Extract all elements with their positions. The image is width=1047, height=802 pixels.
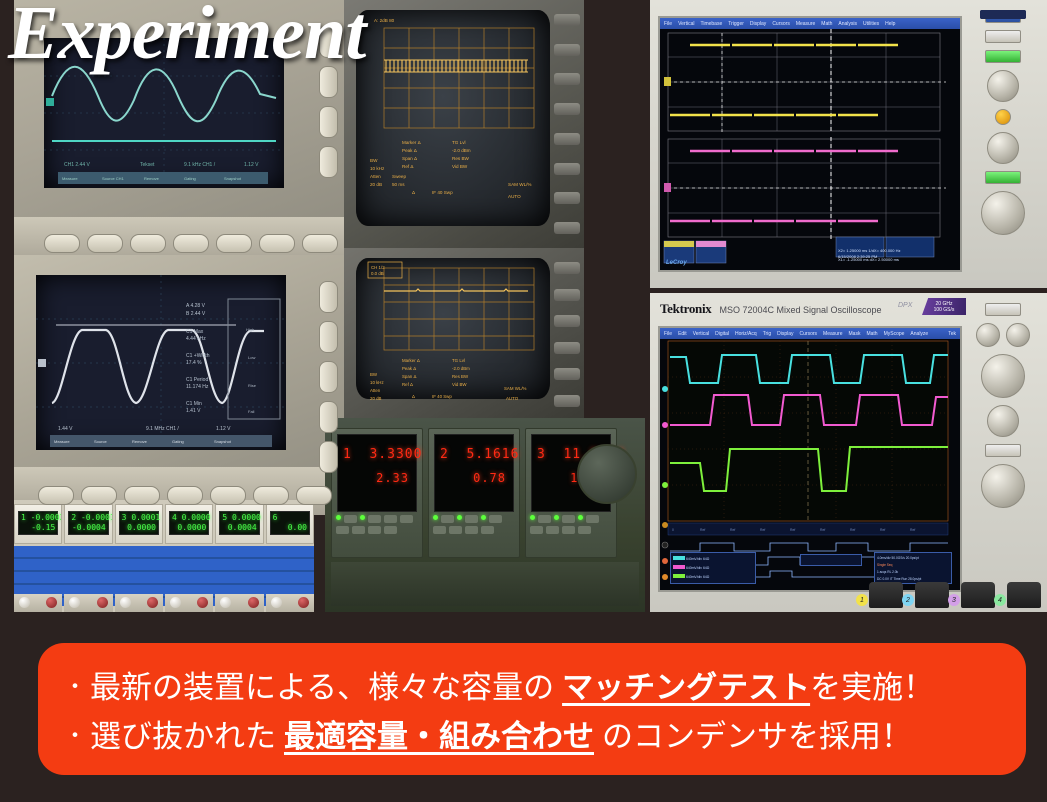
svg-text:1.41 V: 1.41 V	[186, 408, 201, 414]
mcu-module[interactable]: 1 -0.0002 -0.15	[14, 504, 62, 544]
probe-label-2: 2	[902, 594, 914, 606]
mcu-channel-id: 2	[71, 513, 76, 522]
svg-text:TG Lvl: TG Lvl	[452, 358, 465, 363]
svg-text:17.4 %: 17.4 %	[186, 360, 202, 366]
mcu-value-top: -0.0002	[31, 513, 63, 522]
svg-text:Ref: Ref	[850, 528, 855, 532]
svg-text:BW: BW	[370, 372, 378, 377]
tektronix-branding: Tektronix MSO 72004C Mixed Signal Oscill…	[660, 301, 882, 317]
menu-item: Math	[866, 331, 877, 337]
svg-text:IF 40 Swp: IF 40 Swp	[432, 190, 453, 195]
svg-text:Ref: Ref	[820, 528, 825, 532]
burst-waveform: A: 2dB 80 Marker ΔPeak Δ Span ΔRef Δ TG …	[356, 10, 556, 228]
svg-text:C1 Min: C1 Min	[186, 401, 202, 407]
psu-keypad[interactable]	[336, 515, 418, 551]
svg-text:Δ: Δ	[412, 190, 415, 195]
mcu-display: 2 -0.0001 -0.0004	[68, 511, 108, 535]
psu-lower-panel	[331, 562, 639, 606]
tek-logo: Tek	[948, 331, 956, 337]
mcu-value-top: 0.0000	[232, 513, 261, 522]
svg-text:Sweep: Sweep	[392, 174, 406, 179]
menu-item: Display	[777, 331, 793, 337]
multipurpose-knob-b[interactable]	[987, 405, 1019, 437]
probe-connector[interactable]: 3	[961, 582, 995, 608]
psu-voltage: 3.3300	[369, 447, 422, 462]
probe-connector[interactable]: 2	[915, 582, 949, 608]
mcu-channel-id: 3	[122, 513, 127, 522]
probe-connector[interactable]: 4	[1007, 582, 1041, 608]
run-stop-button[interactable]	[985, 50, 1021, 63]
lecroy-control-column[interactable]	[963, 10, 1043, 278]
svg-text:10 kHz: 10 kHz	[370, 380, 384, 385]
svg-text:B 2.44 V: B 2.44 V	[186, 311, 206, 317]
mcu-display: 3 0.0001 0.0000	[119, 511, 159, 535]
auto-setup-button[interactable]	[985, 171, 1021, 184]
svg-text:C1 +Width: C1 +Width	[186, 353, 210, 359]
menu-item: Cursors	[772, 21, 790, 27]
svg-text:-2.0 dBm: -2.0 dBm	[452, 148, 471, 153]
psu-display: 1 3.3300 2.33	[337, 434, 417, 512]
mcu-value-bottom: 0.0000	[177, 523, 206, 532]
svg-text:Gating: Gating	[172, 439, 184, 444]
lecroy-menu-bar[interactable]: File Vertical Timebase Trigger Display C…	[660, 18, 960, 29]
svg-text:Tekset: Tekset	[140, 162, 155, 168]
crt-side-buttons[interactable]	[554, 14, 580, 234]
front-panel-buttons[interactable]	[38, 486, 332, 505]
photo-amber-crt-flat: CH 1/20.0 dB Marker ΔPeak Δ Span ΔRef Δ …	[344, 248, 584, 423]
mcu-value-bottom: -0.15	[31, 523, 55, 532]
page-title: Experiment	[8, 0, 365, 77]
svg-text:1.44 V: 1.44 V	[58, 426, 73, 432]
svg-text:20 dB: 20 dB	[370, 396, 382, 401]
model-name: MSO 72004C Mixed Signal Oscilloscope	[719, 305, 881, 315]
svg-text:0.0 dB: 0.0 dB	[371, 271, 384, 276]
mcu-display: 6 0.00	[270, 511, 310, 535]
photo-tektronix-scope: Tektronix MSO 72004C Mixed Signal Oscill…	[650, 293, 1047, 612]
probe-label-1: 1	[856, 594, 868, 606]
svg-text:Span Δ: Span Δ	[402, 156, 417, 161]
svg-text:A 4.28 V: A 4.28 V	[186, 303, 206, 309]
trigger-level-knob[interactable]	[981, 464, 1025, 508]
mcu-channel-id: 4	[172, 513, 177, 522]
svg-text:Ref: Ref	[880, 528, 885, 532]
menu-item: Horiz/Acq	[735, 331, 757, 337]
svg-text:A: 2dB 80: A: 2dB 80	[374, 18, 395, 23]
autoset-button[interactable]	[985, 444, 1021, 457]
callout-line-2-post: のコンデンサを採用！	[602, 711, 912, 756]
svg-text:IF 40 Swp: IF 40 Swp	[432, 394, 452, 399]
svg-text:9.1 MHz CH1 /: 9.1 MHz CH1 /	[146, 426, 179, 432]
menu-item: Cursors	[800, 331, 818, 337]
psu-channel-id: 3	[537, 447, 546, 462]
callout-box: ・ 最新の装置による、様々な容量の マッチングテスト を実施！ ・ 選び抜かれた…	[38, 643, 1026, 775]
vertical-position-knob[interactable]	[987, 70, 1019, 102]
callout-line-1: ・ 最新の装置による、様々な容量の マッチングテスト を実施！	[64, 662, 1000, 707]
menu-item: Digital	[715, 331, 729, 337]
psu-display: 2 5.1616 0.78	[434, 434, 514, 512]
mcu-value-top: 0.0001	[131, 513, 160, 522]
badge-line-2: 100 GS/s	[934, 307, 955, 313]
lecroy-screen: File Vertical Timebase Trigger Display C…	[658, 16, 962, 272]
bullet-glyph: ・	[64, 718, 90, 750]
svg-text:Measure: Measure	[54, 439, 70, 444]
screen-timestamp: 6/15/2008 2:39:25 PM	[838, 254, 901, 260]
photo-digital-oscilloscope-square: A 4.28 VB 2.44 V C1 Max4.44 kHz C1 +Widt…	[14, 255, 344, 515]
tek-control-column[interactable]	[963, 303, 1043, 602]
svg-text:1.12 V: 1.12 V	[244, 162, 259, 168]
svg-text:Ref: Ref	[760, 528, 765, 532]
psu-keypad[interactable]	[530, 515, 612, 551]
psu-keypad[interactable]	[433, 515, 515, 551]
svg-text:1.12 V: 1.12 V	[216, 426, 231, 432]
horizontal-scale-knob[interactable]	[976, 323, 1000, 347]
mcu-value-top: 0.0000	[182, 513, 211, 522]
menu-item: File	[664, 331, 672, 337]
svg-text:CH1 2.44 V: CH1 2.44 V	[64, 162, 91, 168]
svg-text:50 ms: 50 ms	[392, 182, 405, 187]
svg-text:Res BW: Res BW	[452, 374, 469, 379]
photo-lecroy-scope: File Vertical Timebase Trigger Display C…	[650, 0, 1047, 288]
menu-item: Vertical	[693, 331, 709, 337]
svg-text:-2.0 dBm: -2.0 dBm	[452, 366, 470, 371]
flat-waveform: CH 1/20.0 dB Marker ΔPeak Δ Span ΔRef Δ …	[356, 258, 556, 406]
svg-text:Source: Source	[94, 439, 107, 444]
svg-text:Peak Δ: Peak Δ	[402, 148, 417, 153]
psu-channel-1[interactable]: 1 3.3300 2.33	[331, 428, 423, 558]
svg-text:Marker Δ: Marker Δ	[402, 358, 420, 363]
psu-current: 2.33	[376, 471, 409, 485]
mcu-display: 5 0.0000 0.0004	[219, 511, 259, 535]
svg-text:Ref Δ: Ref Δ	[402, 164, 414, 169]
bandwidth-badge: 20 GHz 100 GS/s	[922, 298, 966, 315]
probe-row: 1 2 3 4	[656, 568, 1041, 608]
svg-text:Marker Δ: Marker Δ	[402, 140, 421, 145]
mcu-display: 1 -0.0002 -0.15	[18, 511, 58, 535]
svg-text:Vid BW: Vid BW	[452, 164, 468, 169]
menu-item: Measure	[823, 331, 842, 337]
svg-text:C1 Period: C1 Period	[186, 377, 208, 383]
svg-text:AUTO: AUTO	[506, 396, 519, 401]
svg-text:11.174 Hz: 11.174 Hz	[186, 384, 209, 390]
photo-dc-power-supply-rack: 1 3.3300 2.33 2 5.1616 0.78	[325, 418, 645, 612]
mcu-module[interactable]: 2 -0.0001 -0.0004	[64, 504, 112, 544]
mcu-value-bottom: 0.0000	[127, 523, 156, 532]
mcu-connector-row[interactable]	[14, 594, 314, 612]
callout-line-2-pre: 選び抜かれた	[90, 711, 276, 756]
svg-text:Ref: Ref	[910, 528, 915, 532]
psu-channel-id: 1	[343, 447, 352, 462]
scope-screen: A 4.28 VB 2.44 V C1 Max4.44 kHz C1 +Widt…	[36, 275, 286, 450]
menu-item: Analyze	[910, 331, 928, 337]
menu-item: Trigger	[728, 21, 744, 27]
svg-text:Vid BW: Vid BW	[452, 382, 467, 387]
mcu-module-controller[interactable]: 6 0.00	[266, 504, 314, 544]
tek-menu-bar[interactable]: File Edit Vertical Digital Horiz/Acq Tri…	[660, 328, 960, 339]
svg-text:20 dB: 20 dB	[370, 182, 382, 187]
svg-text:Atten: Atten	[370, 174, 381, 179]
menu-item: MyScope	[884, 331, 905, 337]
psu-channel-id: 2	[440, 447, 449, 462]
tektronix-waveforms: 0RefRef RefRefRef RefRefRef	[660, 339, 956, 587]
svg-text:10 kHz: 10 kHz	[370, 166, 385, 171]
menu-item: Utilities	[863, 21, 879, 27]
mcu-display: 4 0.0000 0.0000	[169, 511, 209, 535]
lecroy-waveforms: X1= -1.25000 ms dX= 2.50000 ms	[660, 29, 956, 267]
crt-screen: CH 1/20.0 dB Marker ΔPeak Δ Span ΔRef Δ …	[356, 258, 550, 399]
panel-label-adjust	[980, 10, 1026, 19]
svg-text:AUTO: AUTO	[508, 194, 521, 199]
menu-item: Analysis	[838, 21, 857, 27]
print-button[interactable]	[985, 30, 1021, 43]
svg-text:High: High	[246, 327, 254, 332]
menu-item: File	[664, 21, 672, 27]
svg-text:TG Lvl: TG Lvl	[452, 140, 466, 145]
mcu-module[interactable]: 3 0.0001 0.0000	[115, 504, 163, 544]
trigger-indicator[interactable]	[995, 109, 1011, 125]
lecroy-logo: LeCroy	[666, 260, 687, 266]
bullet-glyph: ・	[64, 669, 90, 701]
mcu-value-top: -0.0001	[81, 513, 113, 522]
menu-item: Measure	[796, 21, 815, 27]
trigger-level-knob[interactable]	[987, 132, 1019, 164]
svg-text:BW: BW	[370, 158, 378, 163]
front-panel-buttons[interactable]	[44, 234, 338, 253]
trigger-source-panel	[800, 554, 862, 566]
display-button[interactable]	[985, 303, 1021, 316]
psu-voltage: 5.1616	[466, 447, 519, 462]
svg-text:Measure: Measure	[62, 176, 78, 181]
menu-item: Edit	[678, 331, 687, 337]
psu-channel-2[interactable]: 2 5.1616 0.78	[428, 428, 520, 558]
mcu-channel-id: 1	[21, 513, 26, 522]
psu-rotary-knob[interactable]	[577, 444, 637, 504]
callout-line-1-post: を実施！	[810, 662, 934, 707]
svg-text:SAM WL/%: SAM WL/%	[504, 386, 527, 391]
menu-item: Mask	[849, 331, 861, 337]
crt-screen: A: 2dB 80 Marker ΔPeak Δ Span ΔRef Δ TG …	[356, 10, 550, 226]
svg-text:Rise: Rise	[248, 383, 257, 388]
mcu-module[interactable]: 4 0.0000 0.0000	[165, 504, 213, 544]
mcu-value-bottom: -0.0004	[72, 523, 106, 532]
svg-text:Ref Δ: Ref Δ	[402, 382, 413, 387]
probe-label-4: 4	[994, 594, 1006, 606]
menu-item: Trig	[763, 331, 771, 337]
tektronix-screen: File Edit Vertical Digital Horiz/Acq Tri…	[658, 326, 962, 592]
svg-text:Snapshot: Snapshot	[224, 176, 242, 181]
scope-side-buttons[interactable]	[319, 281, 338, 473]
probe-connector[interactable]: 1	[869, 582, 903, 608]
mcu-module[interactable]: 5 0.0000 0.0004	[215, 504, 263, 544]
svg-text:Δ: Δ	[412, 394, 415, 399]
callout-line-1-emphasis: マッチングテスト	[562, 662, 810, 707]
mcu-value-bottom: 0.0004	[228, 523, 257, 532]
mcu-value-top: 0.00	[288, 523, 307, 532]
svg-text:Fall: Fall	[248, 409, 255, 414]
svg-text:SAM WL/%: SAM WL/%	[508, 182, 531, 187]
mcu-channel-id: 5	[222, 513, 227, 522]
svg-text:Gating: Gating	[184, 176, 196, 181]
svg-text:4.44 kHz: 4.44 kHz	[186, 336, 206, 342]
callout-line-2-emphasis: 最適容量・組み合わせ	[284, 711, 594, 756]
svg-text:0: 0	[672, 528, 674, 532]
svg-text:Span Δ: Span Δ	[402, 374, 416, 379]
menu-item: Help	[885, 21, 895, 27]
svg-text:CH 1/2: CH 1/2	[371, 265, 385, 270]
slide-root: CH1 2.44 VTekset 9.1 kHz CH1 /1.12 V Mea…	[0, 0, 1047, 802]
svg-text:Atten: Atten	[370, 388, 381, 393]
multipurpose-knob-a[interactable]	[981, 354, 1025, 398]
svg-text:9.1 kHz CH1 /: 9.1 kHz CH1 /	[184, 162, 216, 168]
photo-collage: CH1 2.44 VTekset 9.1 kHz CH1 /1.12 V Mea…	[0, 0, 1047, 612]
psu-current: 0.78	[473, 471, 506, 485]
svg-text:C1 Max: C1 Max	[186, 329, 204, 335]
svg-text:Remove: Remove	[144, 176, 160, 181]
svg-text:Ref: Ref	[730, 528, 735, 532]
svg-text:Res BW: Res BW	[452, 156, 470, 161]
menu-item: Timebase	[700, 21, 722, 27]
photo-amber-crt-burst: A: 2dB 80 Marker ΔPeak Δ Span ΔRef Δ TG …	[344, 0, 584, 250]
probe-label-3: 3	[948, 594, 960, 606]
photo-multichannel-modules: 1 -0.0002 -0.15 2 -0.0001 -0.0004 3 0.00…	[14, 500, 314, 612]
vertical-scale-knob[interactable]	[1006, 323, 1030, 347]
crt-side-buttons[interactable]	[554, 262, 580, 407]
square-waveform: A 4.28 VB 2.44 V C1 Max4.44 kHz C1 +Widt…	[36, 275, 286, 450]
menu-item: Vertical	[678, 21, 694, 27]
mcu-channel-id: 6	[273, 513, 278, 522]
measure-row: 640mV/div	[686, 557, 702, 561]
svg-text:Ref: Ref	[700, 528, 705, 532]
svg-text:Source CH1: Source CH1	[102, 176, 125, 181]
svg-text:Remove: Remove	[132, 439, 148, 444]
adjust-knob[interactable]	[981, 191, 1025, 235]
trigger-text: 4.0ms/div 50.0GS/s 20.0ps/pt	[877, 555, 949, 562]
svg-text:Snapshot: Snapshot	[214, 439, 232, 444]
brand-name: Tektronix	[660, 301, 711, 317]
svg-text:Ref: Ref	[790, 528, 795, 532]
mcu-module-row: 1 -0.0002 -0.15 2 -0.0001 -0.0004 3 0.00…	[14, 504, 314, 544]
menu-item: Display	[750, 21, 766, 27]
dpx-label: DPX	[898, 302, 912, 309]
svg-text:Peak Δ: Peak Δ	[402, 366, 416, 371]
callout-line-2: ・ 選び抜かれた 最適容量・組み合わせ のコンデンサを採用！	[64, 711, 1000, 756]
svg-text:Low: Low	[248, 355, 255, 360]
menu-item: Math	[821, 21, 832, 27]
callout-line-1-pre: 最新の装置による、様々な容量の	[90, 662, 554, 707]
lecroy-cursor-readout: X2= 1.25000 ms 1/dX= 400.000 Hz 6/15/200…	[838, 248, 901, 260]
